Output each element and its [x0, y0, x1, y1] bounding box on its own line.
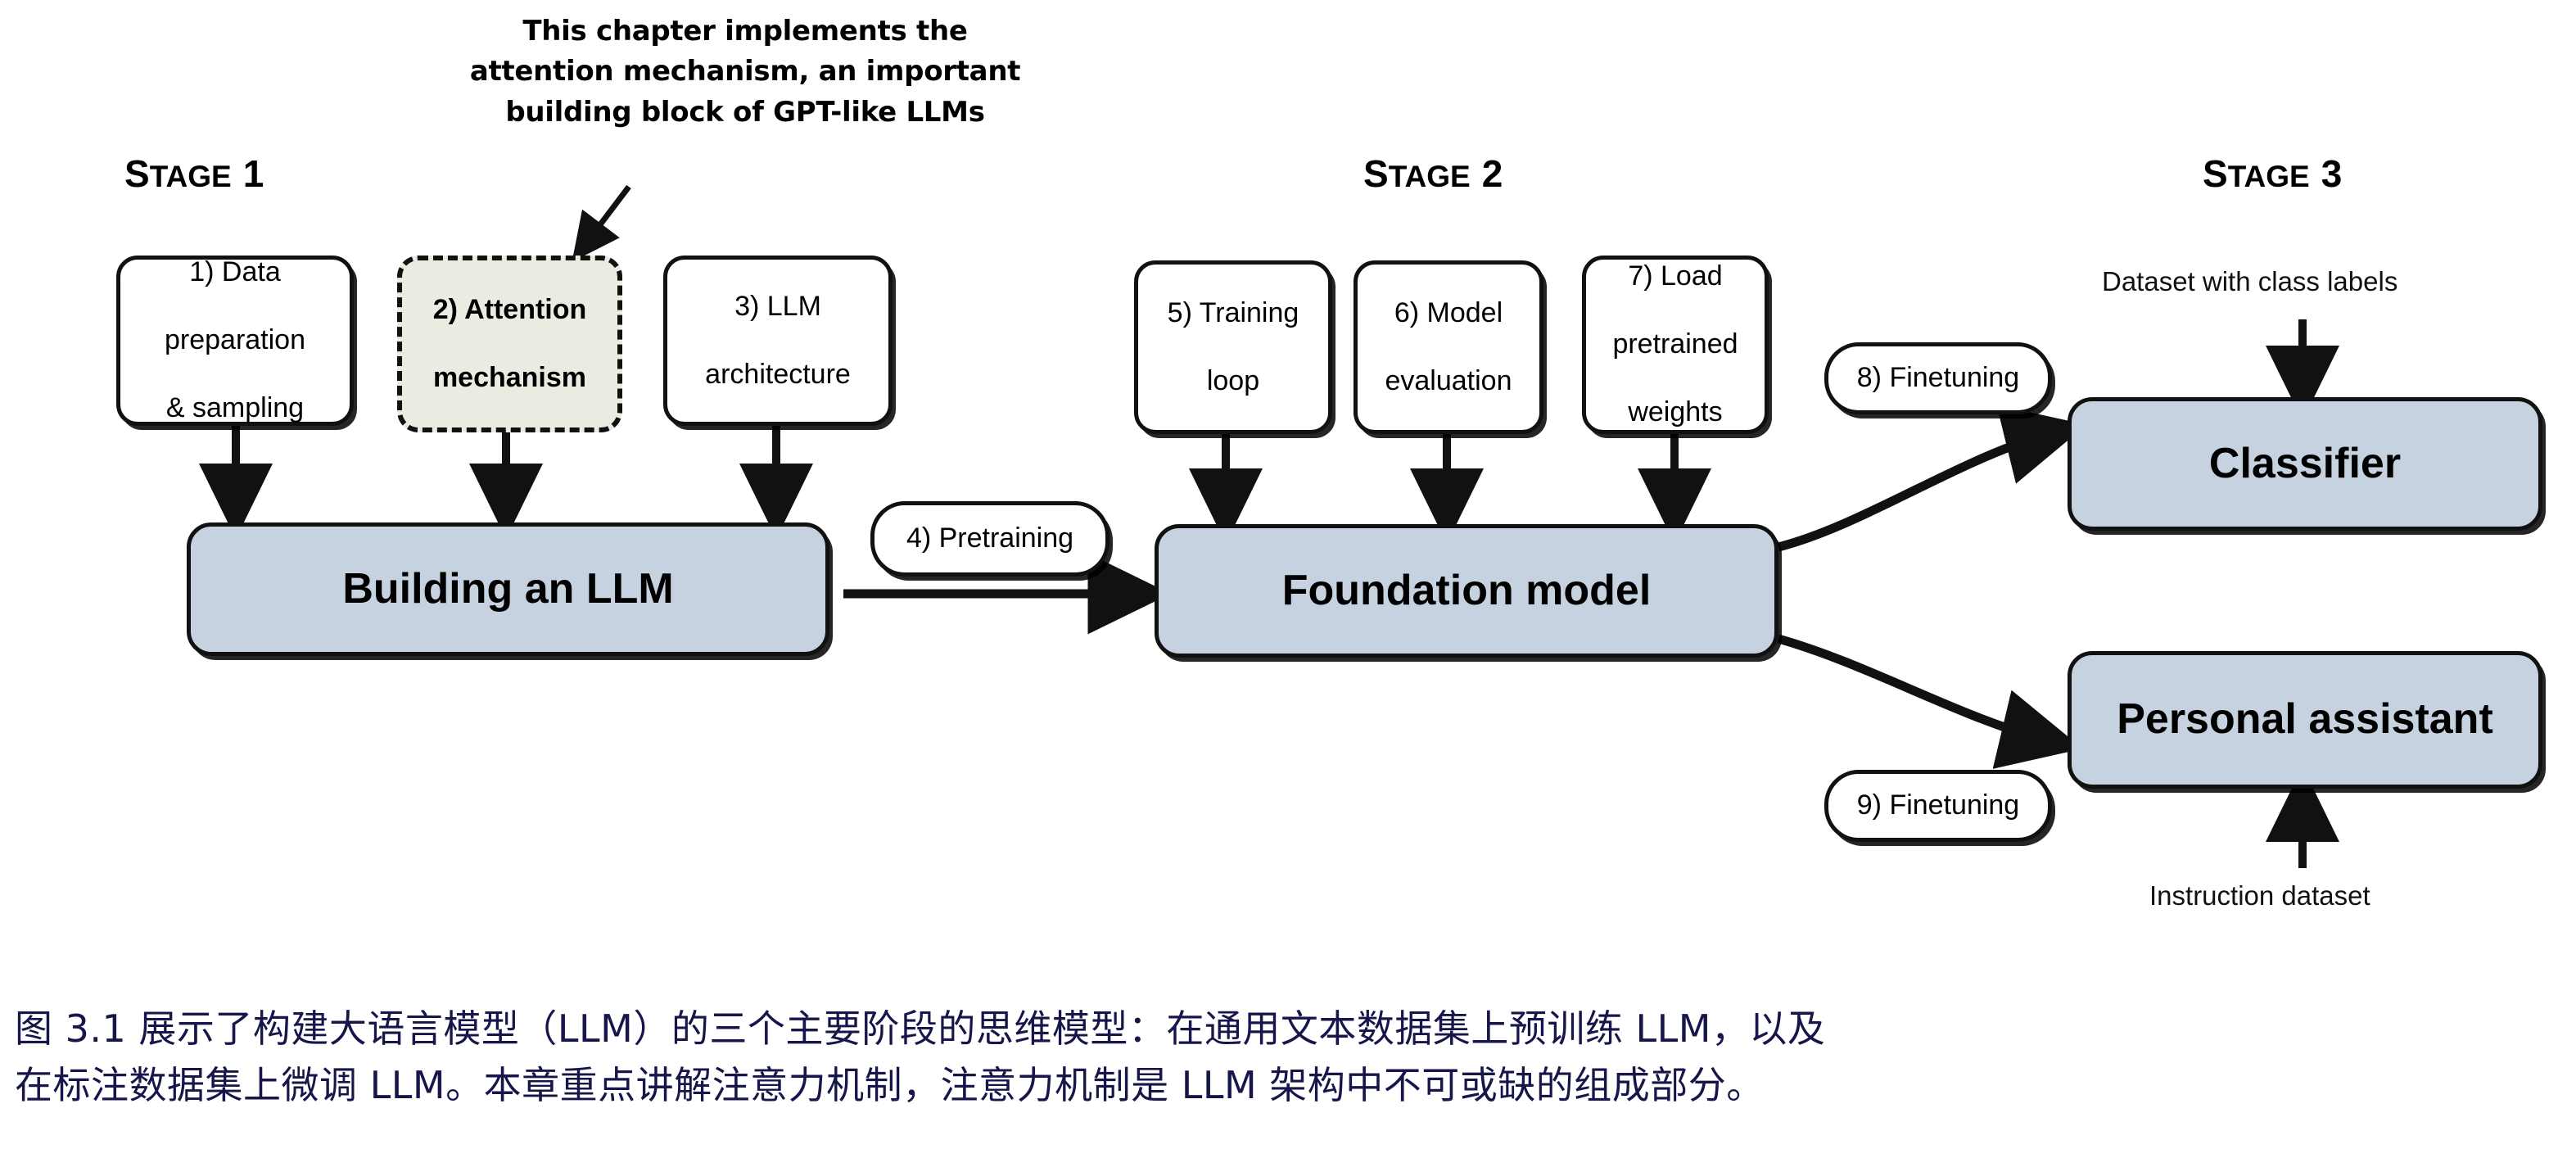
chapter-callout: This chapter implements the attention me…: [459, 11, 1032, 133]
line-2: pretrained: [1604, 328, 1746, 361]
node-finetuning-9[interactable]: 9) Finetuning: [1824, 770, 2052, 842]
figure-caption: 图 3.1 展示了构建大语言模型（LLM）的三个主要阶段的思维模型：在通用文本数…: [15, 1001, 2569, 1114]
figure-canvas: This chapter implements the attention me…: [0, 0, 2576, 1158]
callout-line-3: building block of GPT-like LLMs: [459, 93, 1032, 133]
node-llm-architecture-label: 3) LLM architecture: [689, 290, 867, 391]
node-finetuning-8-label: 8) Finetuning: [1849, 361, 2027, 395]
line-1: 1) Data: [156, 256, 314, 289]
caption-line-1: 图 3.1 展示了构建大语言模型（LLM）的三个主要阶段的思维模型：在通用文本数…: [15, 1001, 2569, 1057]
line-1: 2) Attention: [425, 293, 595, 327]
line-2: loop: [1159, 364, 1308, 398]
line-1: 6) Model: [1376, 296, 1520, 330]
line-1: 3) LLM: [697, 290, 859, 323]
node-load-pretrained-weights-label: 7) Load pretrained weights: [1596, 260, 1754, 429]
line-2: preparation: [156, 323, 314, 357]
stage-1-heading: STAGE1: [124, 152, 264, 196]
line-2: evaluation: [1376, 364, 1520, 398]
node-personal-assistant[interactable]: Personal assistant: [2068, 651, 2542, 789]
node-personal-assistant-label: Personal assistant: [2108, 694, 2501, 745]
callout-line-1: This chapter implements the: [459, 11, 1032, 52]
node-training-loop[interactable]: 5) Training loop: [1134, 260, 1332, 434]
node-training-loop-label: 5) Training loop: [1151, 296, 1316, 398]
stage-1-rest: TAGE: [150, 160, 232, 193]
line-3: weights: [1604, 396, 1746, 429]
caption-line-2: 在标注数据集上微调 LLM。本章重点讲解注意力机制，注意力机制是 LLM 架构中…: [15, 1057, 2569, 1114]
stage-2-heading: STAGE2: [1363, 152, 1503, 196]
stage-3-num: 3: [2321, 152, 2343, 195]
arrow-foundation-to-classifier: [1778, 432, 2055, 547]
stage-3-cap: S: [2203, 152, 2228, 195]
node-model-evaluation-label: 6) Model evaluation: [1368, 296, 1528, 398]
line-2: architecture: [697, 358, 859, 391]
line-1: 5) Training: [1159, 296, 1308, 330]
stage-1-cap: S: [124, 152, 150, 195]
node-attention-mechanism[interactable]: 2) Attention mechanism: [397, 256, 622, 432]
line-1: 7) Load: [1604, 260, 1746, 293]
stage-2-cap: S: [1363, 152, 1389, 195]
node-foundation-model-label: Foundation model: [1274, 565, 1660, 617]
node-foundation-model[interactable]: Foundation model: [1155, 524, 1778, 658]
arrow-foundation-to-assistant: [1778, 639, 2051, 741]
callout-line-2: attention mechanism, an important: [459, 52, 1032, 92]
node-llm-architecture[interactable]: 3) LLM architecture: [663, 256, 893, 426]
node-classifier-label: Classifier: [2201, 438, 2409, 490]
node-finetuning-9-label: 9) Finetuning: [1849, 789, 2027, 822]
stage-2-num: 2: [1482, 152, 1503, 195]
node-pretraining-label: 4) Pretraining: [898, 522, 1082, 555]
callout-arrow: [583, 187, 629, 247]
stage-3-heading: STAGE3: [2203, 152, 2342, 196]
node-finetuning-8[interactable]: 8) Finetuning: [1824, 342, 2052, 414]
node-model-evaluation[interactable]: 6) Model evaluation: [1354, 260, 1543, 434]
node-data-preparation-label: 1) Data preparation & sampling: [148, 256, 322, 425]
stage-3-rest: TAGE: [2228, 160, 2310, 193]
node-pretraining[interactable]: 4) Pretraining: [870, 501, 1109, 577]
node-attention-mechanism-label: 2) Attention mechanism: [417, 293, 603, 395]
node-building-an-llm-label: Building an LLM: [334, 563, 681, 615]
stage-1-num: 1: [243, 152, 264, 195]
line-2: mechanism: [425, 361, 595, 395]
stage-2-rest: TAGE: [1389, 160, 1471, 193]
label-dataset-class-labels: Dataset with class labels: [2102, 266, 2397, 297]
node-classifier[interactable]: Classifier: [2068, 397, 2542, 531]
node-load-pretrained-weights[interactable]: 7) Load pretrained weights: [1582, 256, 1769, 434]
label-instruction-dataset: Instruction dataset: [2149, 880, 2370, 911]
node-data-preparation[interactable]: 1) Data preparation & sampling: [116, 256, 354, 426]
node-building-an-llm[interactable]: Building an LLM: [187, 522, 829, 656]
line-3: & sampling: [156, 391, 314, 425]
